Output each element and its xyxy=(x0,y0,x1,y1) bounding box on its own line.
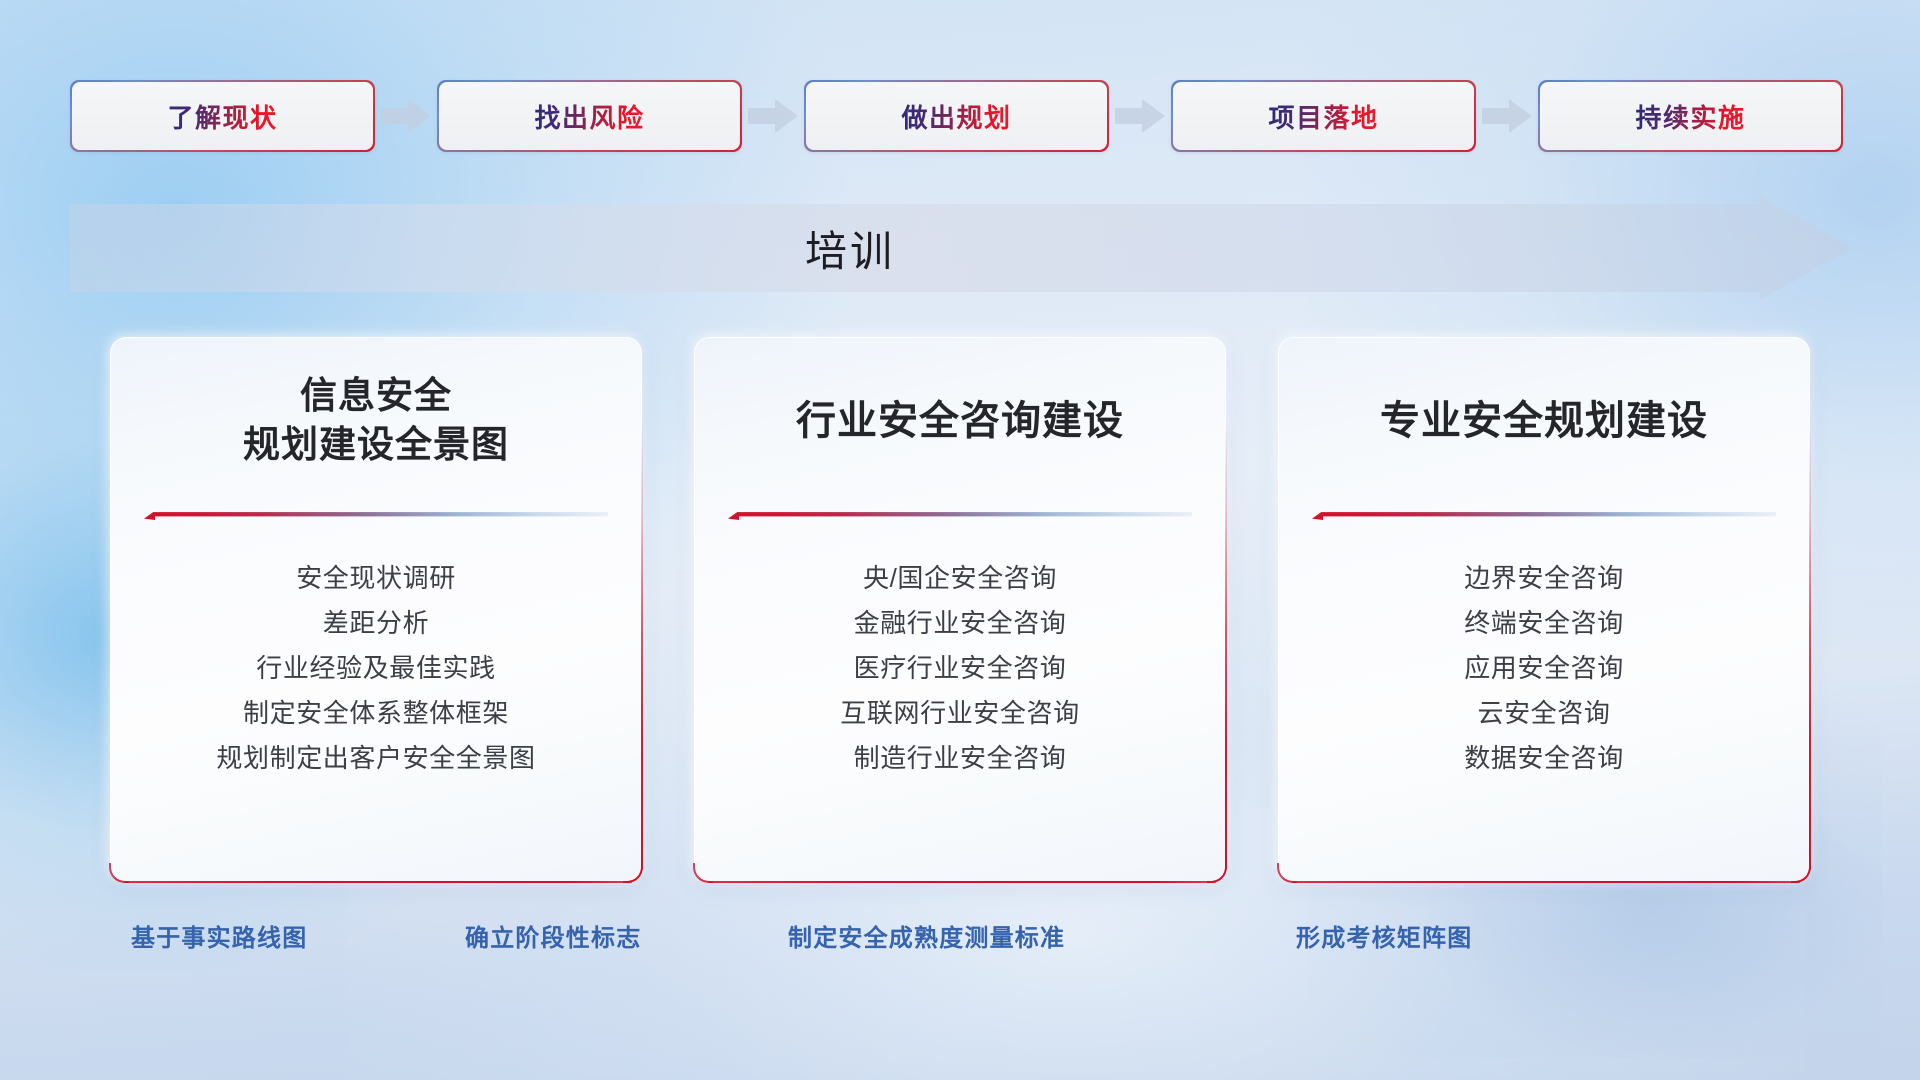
list-item: 央/国企安全咨询 xyxy=(863,555,1057,600)
step-label-4: 项目落地 xyxy=(1268,98,1378,135)
card-2-list: 央/国企安全咨询 金融行业安全咨询 医疗行业安全咨询 互联网行业安全咨询 制造行… xyxy=(716,555,1204,780)
list-item: 制造行业安全咨询 xyxy=(854,735,1067,780)
list-item: 行业经验及最佳实践 xyxy=(256,645,495,690)
step-box-5-inner: 持续实施 xyxy=(1540,82,1842,151)
step-box-2-inner: 找出风险 xyxy=(439,82,741,151)
step-arrow-icon-4 xyxy=(1482,99,1532,133)
training-banner: 培训 xyxy=(70,196,1852,300)
footer-label-1: 基于事实路线图 xyxy=(131,918,307,953)
card-row: 信息安全 规划建设全景图 安全现 xyxy=(110,337,1810,882)
step-label-2: 找出风险 xyxy=(534,98,644,135)
step-label-5: 持续实施 xyxy=(1635,98,1745,135)
footer-label-row: 基于事实路线图 确立阶段性标志 制定安全成熟度测量标准 形成考核矩阵图 xyxy=(0,918,1920,972)
card-3-corner-bottom-left xyxy=(1277,863,1297,883)
step-arrow-icon-2 xyxy=(748,99,798,133)
list-item: 互联网行业安全咨询 xyxy=(840,690,1079,735)
footer-label-2: 确立阶段性标志 xyxy=(465,918,641,953)
list-item: 差距分析 xyxy=(323,600,429,645)
card-1-list: 安全现状调研 差距分析 行业经验及最佳实践 制定安全体系整体框架 规划制定出客户… xyxy=(132,555,620,780)
step-arrow-icon-3 xyxy=(1115,99,1165,133)
card-2-corner-bottom-left xyxy=(693,863,713,883)
step-box-3[interactable]: 做出规划 xyxy=(804,80,1109,152)
card-3-title-line-1: 专业安全规划建设 xyxy=(1380,395,1708,448)
card-professional-security-planning[interactable]: 专业安全规划建设 边界安全咨询 xyxy=(1278,337,1810,882)
process-step-row: 了解现状 找出风险 做出规划 项目落地 xyxy=(70,80,1850,152)
step-arrow-icon-1 xyxy=(381,99,431,133)
card-2-title: 行业安全咨询建设 xyxy=(694,337,1226,505)
list-item: 云安全咨询 xyxy=(1477,690,1610,735)
card-1-title-line-1: 信息安全 xyxy=(300,372,452,421)
step-box-4-inner: 项目落地 xyxy=(1173,82,1475,151)
card-3-corner-bottom-right xyxy=(1791,863,1811,883)
list-item: 应用安全咨询 xyxy=(1464,645,1624,690)
footer-label-4: 形成考核矩阵图 xyxy=(1296,918,1472,953)
card-1-accent-bottom xyxy=(124,881,632,883)
list-item: 制定安全体系整体框架 xyxy=(243,690,509,735)
card-2-divider xyxy=(728,511,1192,520)
card-3-title: 专业安全规划建设 xyxy=(1278,337,1810,505)
step-box-1-inner: 了解现状 xyxy=(72,82,374,151)
list-item: 医疗行业安全咨询 xyxy=(854,645,1067,690)
card-2-accent-bottom xyxy=(708,881,1216,883)
card-1-title-line-2: 规划建设全景图 xyxy=(243,421,509,470)
step-label-3: 做出规划 xyxy=(901,98,1011,135)
step-box-1[interactable]: 了解现状 xyxy=(70,80,375,152)
card-3-divider xyxy=(1312,511,1776,520)
footer-label-3: 制定安全成熟度测量标准 xyxy=(788,918,1065,953)
card-1-corner-bottom-right xyxy=(623,863,643,883)
card-3-list: 边界安全咨询 终端安全咨询 应用安全咨询 云安全咨询 数据安全咨询 xyxy=(1300,555,1788,780)
step-label-1: 了解现状 xyxy=(167,98,277,135)
card-1-divider xyxy=(144,511,608,520)
card-2-corner-bottom-right xyxy=(1207,863,1227,883)
card-2-title-line-1: 行业安全咨询建设 xyxy=(796,395,1124,448)
list-item: 边界安全咨询 xyxy=(1464,555,1624,600)
card-industry-security-consulting[interactable]: 行业安全咨询建设 央/国企安全咨询 xyxy=(694,337,1226,882)
list-item: 终端安全咨询 xyxy=(1464,600,1624,645)
list-item: 数据安全咨询 xyxy=(1464,735,1624,780)
card-information-security[interactable]: 信息安全 规划建设全景图 安全现 xyxy=(110,337,642,882)
banner-title: 培训 xyxy=(70,196,1630,300)
list-item: 金融行业安全咨询 xyxy=(854,600,1067,645)
step-box-4[interactable]: 项目落地 xyxy=(1171,80,1476,152)
step-box-3-inner: 做出规划 xyxy=(806,82,1108,151)
card-1-title: 信息安全 规划建设全景图 xyxy=(110,337,642,505)
step-box-2[interactable]: 找出风险 xyxy=(437,80,742,152)
list-item: 规划制定出客户安全全景图 xyxy=(216,735,535,780)
card-3-accent-bottom xyxy=(1292,881,1800,883)
card-1-corner-bottom-left xyxy=(109,863,129,883)
list-item: 安全现状调研 xyxy=(296,555,456,600)
step-box-5[interactable]: 持续实施 xyxy=(1538,80,1843,152)
